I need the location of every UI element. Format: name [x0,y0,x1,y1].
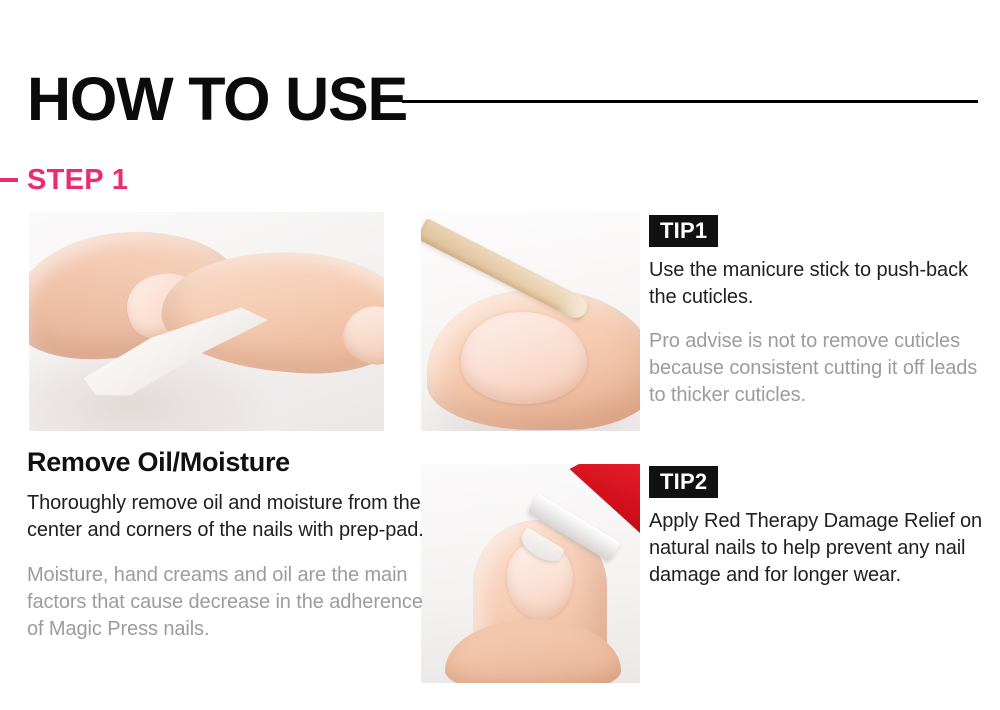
nail-lower [339,301,384,369]
page-title: HOW TO USE [27,68,407,130]
left-text-column: Remove Oil/Moisture Thoroughly remove oi… [27,444,427,643]
section-heading: Remove Oil/Moisture [27,444,427,480]
header-divider-line [402,100,978,103]
tip-badge-1: TIP1 [649,215,718,247]
step-header: STEP 1 [0,160,400,200]
prep-pad-photo [29,212,384,431]
manicure-stick-photo [421,212,640,431]
page-header: HOW TO USE [0,68,1000,130]
tip-body-2: Apply Red Therapy Damage Relief on natur… [649,508,994,589]
left-secondary-text: Moisture, hand creams and oil are the ma… [27,562,427,643]
red-therapy-photo [421,464,640,683]
step-dash-icon [0,178,18,182]
natural-nail [461,312,587,404]
tip-badge-2: TIP2 [649,466,718,498]
left-primary-text: Thoroughly remove oil and moisture from … [27,490,427,544]
how-to-use-page: HOW TO USE STEP 1 R [0,0,1000,710]
tip-body-1: Use the manicure stick to push-back the … [649,257,989,409]
tip-block-1: TIP1 Use the manicure stick to push-back… [649,215,989,409]
step-label: STEP 1 [27,160,128,200]
tip-secondary-text-1: Pro advise is not to remove cuticles bec… [649,328,989,409]
tip-primary-text-1: Use the manicure stick to push-back the … [649,257,989,311]
tip-block-2: TIP2 Apply Red Therapy Damage Relief on … [649,466,994,589]
tip-primary-text-2: Apply Red Therapy Damage Relief on natur… [649,508,994,589]
